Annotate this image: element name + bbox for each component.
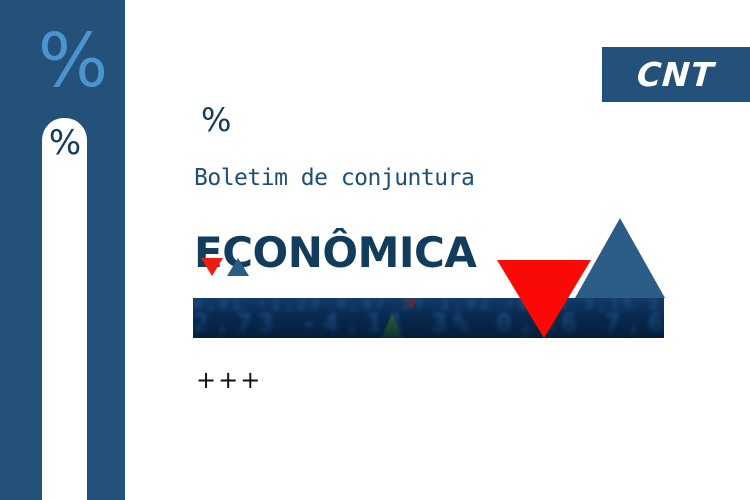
- triangle-up-icon: [227, 258, 249, 276]
- cover-page: % % CNT % Boletim de conjuntura ECONÔMIC…: [0, 0, 750, 500]
- left-sidebar: % %: [0, 0, 125, 500]
- ticker-row-bottom: 2,73 -4,11 3% 0,56 7,65 3,12 1,50 -2,84: [193, 309, 664, 338]
- title-kicker: Boletim de conjuntura: [194, 164, 474, 192]
- plus-marks: +++: [196, 366, 262, 394]
- cnt-logo-text: CNT: [636, 58, 716, 91]
- sidebar-percent-large-glyph: %: [22, 18, 122, 104]
- sidebar-percent-small-glyph: %: [42, 122, 87, 164]
- ticker-band: 0,81 -1,23 4,07 17 1,92 -0,44 3,15 2,68 …: [193, 298, 664, 338]
- ticker-triangle-up-icon: [381, 314, 403, 338]
- sidebar-white-capsule: %: [42, 118, 87, 500]
- cnt-logo: CNT: [602, 47, 750, 102]
- ticker-triangle-down-icon: [404, 298, 418, 310]
- title-percent-glyph: %: [201, 102, 230, 138]
- triangle-down-icon: [201, 258, 223, 276]
